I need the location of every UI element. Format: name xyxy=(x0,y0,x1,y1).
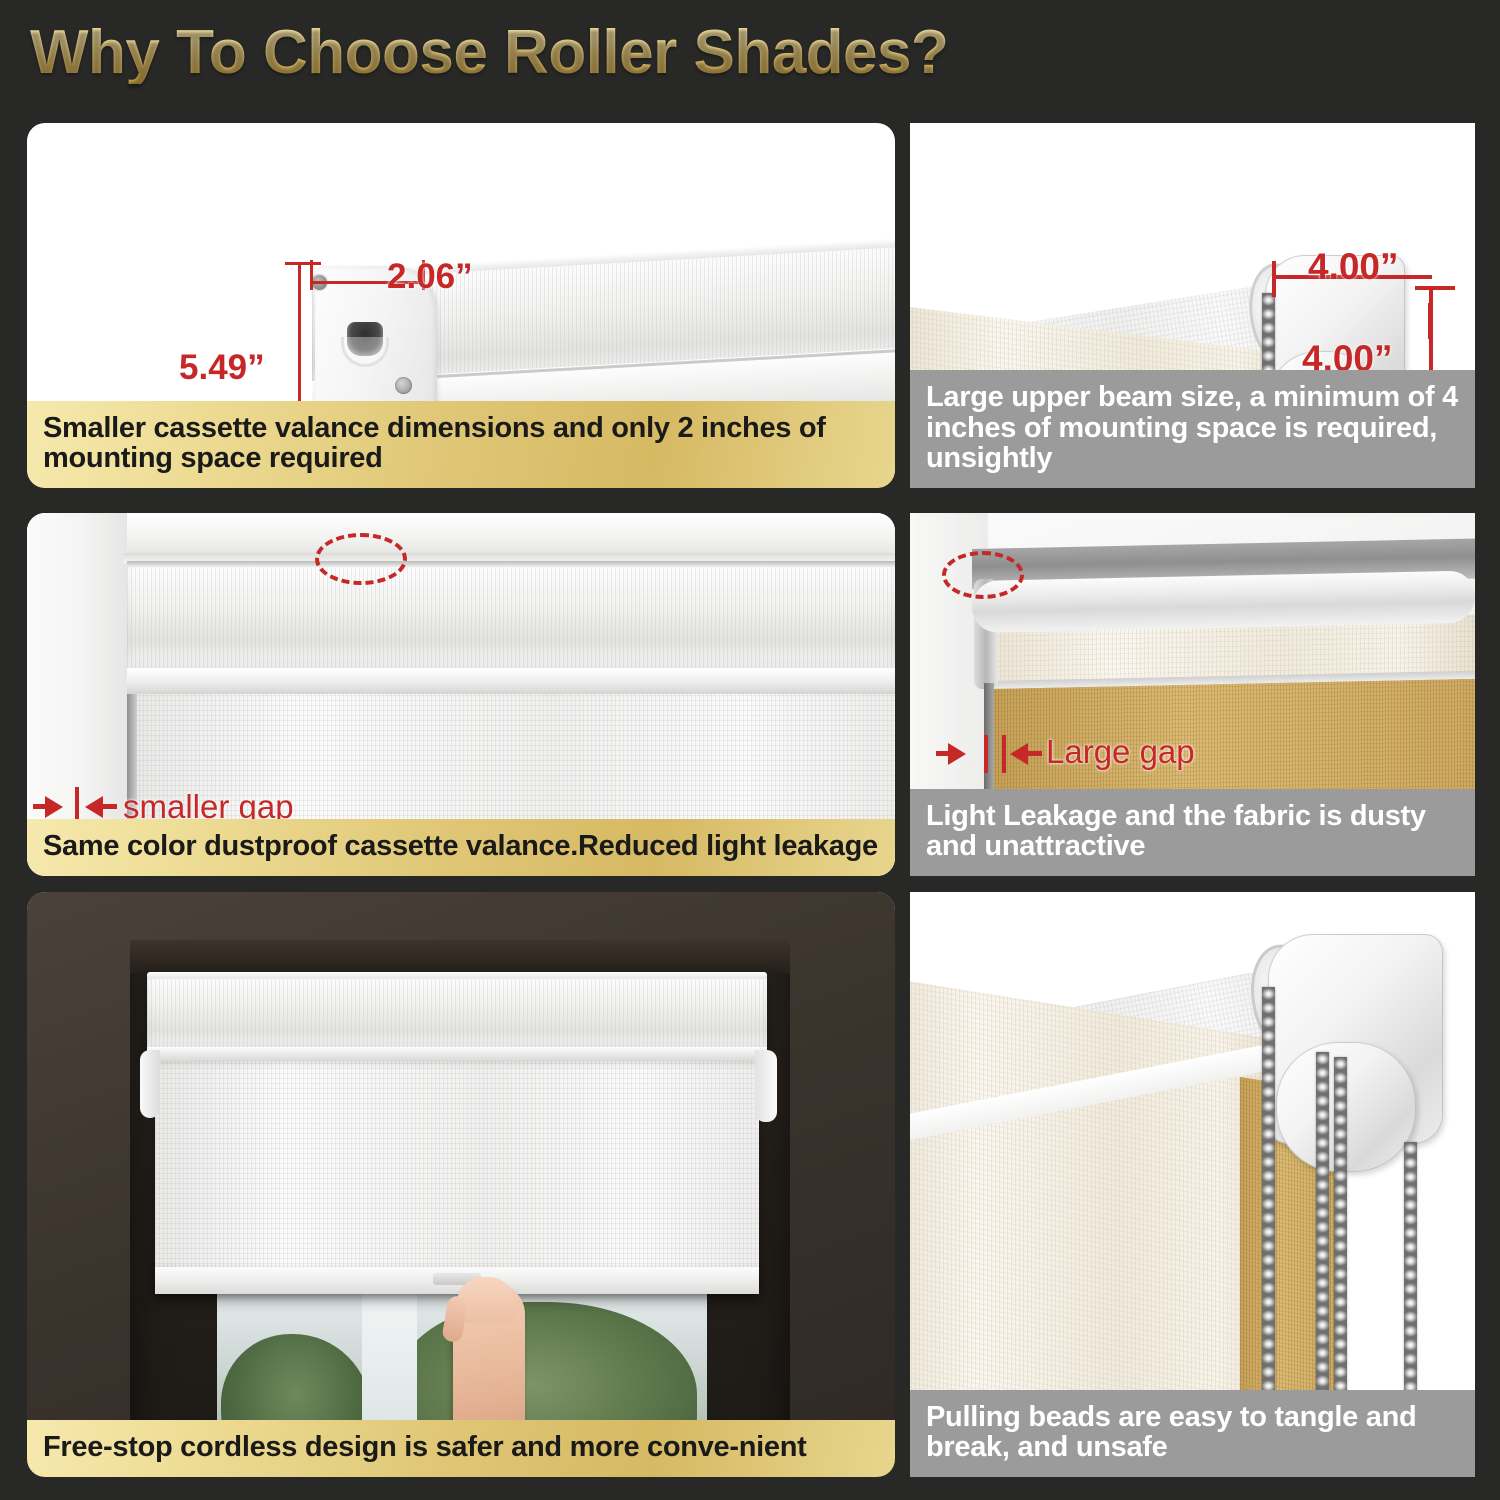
dim-beam-width-tick-left xyxy=(1272,261,1276,297)
window-valance-lip xyxy=(147,1047,767,1061)
caption-large-upper-beam: Large upper beam size, a minimum of 4 in… xyxy=(910,370,1475,488)
panel-large-upper-beam: 4.00” 4.00” Large upper beam size, a min… xyxy=(910,123,1475,488)
sky-gap xyxy=(362,1282,417,1432)
window-casing-head xyxy=(130,940,790,974)
dim-width-tick-left xyxy=(310,260,313,290)
large-gap-arrow-right xyxy=(1010,743,1028,765)
caption-smaller-cassette: Smaller cassette valance dimensions and … xyxy=(27,401,895,488)
window-cassette-valance xyxy=(147,974,767,1052)
panel-cordless-design: Free-stop cordless design is safer and m… xyxy=(27,892,895,1477)
dim-beam-height-tick-top xyxy=(1415,286,1455,290)
window-valance-top-edge xyxy=(147,972,767,979)
cassette-valance-seam xyxy=(127,561,895,567)
caption-light-leakage: Light Leakage and the fabric is dusty an… xyxy=(910,789,1475,876)
dim-beam-width-label: 4.00” xyxy=(1308,246,1399,288)
gap-label-large: Large gap xyxy=(1046,733,1195,771)
dim-height-tick-top xyxy=(285,262,321,265)
seam-highlight-ellipse xyxy=(315,533,407,585)
window-frame-top xyxy=(27,513,895,557)
dim-width-label: 2.06” xyxy=(387,257,473,297)
page-title: Why To Choose Roller Shades? xyxy=(30,22,948,84)
cassette-valance xyxy=(127,565,895,670)
window-valance-endcap-right xyxy=(755,1050,777,1122)
caption-cordless-design: Free-stop cordless design is safer and m… xyxy=(27,1420,895,1477)
panel-light-leakage: Large gap Light Leakage and the fabric i… xyxy=(910,513,1475,876)
gap-arrow-right xyxy=(85,796,103,818)
large-gap-marker-bar-2 xyxy=(1002,735,1006,773)
large-gap-arrow-right-stem xyxy=(1028,751,1042,756)
caption-pulling-beads: Pulling beads are easy to tangle and bre… xyxy=(910,1390,1475,1477)
end-cap-screw-mid xyxy=(395,377,412,394)
large-gap-marker-bar-1 xyxy=(984,735,988,773)
photo-window-cordless-shade xyxy=(27,892,895,1477)
window-shade-fabric xyxy=(155,1029,759,1294)
gap-arrow-left-stem xyxy=(33,804,49,809)
gap-arrow-right-stem xyxy=(103,804,117,809)
cassette-valance-lip xyxy=(127,668,895,694)
dim-height-label: 5.49” xyxy=(179,348,265,388)
window-valance-endcap-left xyxy=(140,1050,160,1118)
gap-highlight-ellipse-bad xyxy=(942,551,1024,599)
caption-dustproof-cassette: Same color dustproof cassette valance.Re… xyxy=(27,819,895,876)
panel-pulling-beads: Pulling beads are easy to tangle and bre… xyxy=(910,892,1475,1477)
panel-smaller-cassette: 5.49” 2.06” Smaller cassette valance dim… xyxy=(27,123,895,488)
large-gap-arrow-left-stem xyxy=(936,751,952,756)
panel-dustproof-cassette: smaller gap Same color dustproof cassett… xyxy=(27,513,895,876)
exposed-roller-tube xyxy=(972,570,1475,633)
